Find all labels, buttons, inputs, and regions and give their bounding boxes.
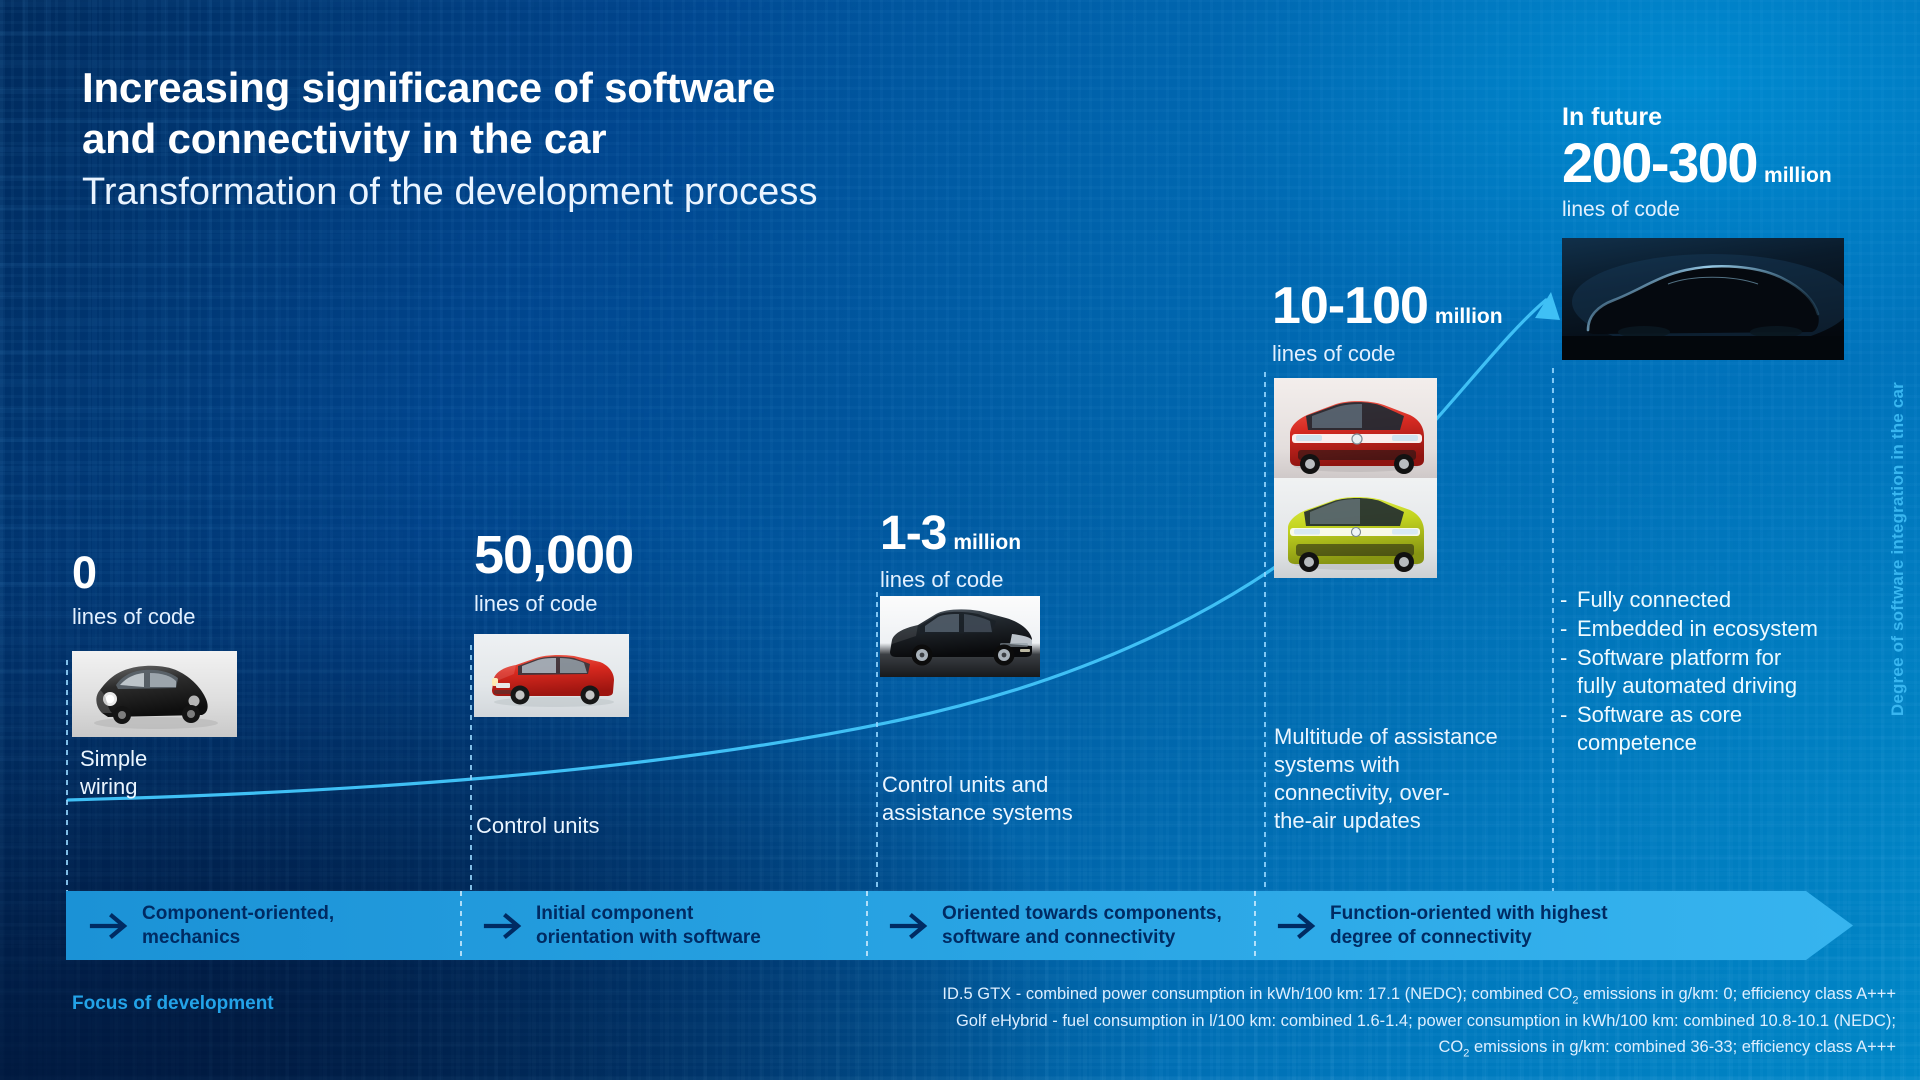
dash-icon: - [1560, 615, 1577, 643]
phase-label-1-line1: Component-oriented, [142, 902, 334, 926]
future-label: In future [1562, 104, 1892, 132]
stat-value-4-number: 10-100 [1272, 277, 1428, 335]
stat-sub-2: lines of code [474, 591, 633, 616]
phase-label-1-line2: mechanics [142, 926, 334, 950]
stat-desc-1-line1: Simple [80, 745, 147, 773]
y-axis-label: Degree of software integration in the ca… [1888, 382, 1908, 716]
future-value-number: 200-300 [1562, 131, 1757, 194]
list-item: - Software platform for fully automated … [1560, 644, 1860, 700]
stat-unit-4: million [1435, 305, 1503, 328]
phase-separator-2 [866, 891, 868, 960]
stat-column-3: 1-3million lines of code [880, 510, 1021, 592]
stat-value-3-number: 1-3 [880, 507, 946, 560]
bullet-text: Software as core competence [1577, 701, 1860, 757]
dash-icon: - [1560, 644, 1577, 700]
vw-passat-photo [880, 596, 1040, 677]
phase-item-4: Function-oriented with highest degree of… [1254, 891, 1853, 960]
stat-desc-4-line3: connectivity, over- [1274, 779, 1498, 807]
future-stat-block: In future 200-300million lines of code [1562, 104, 1892, 222]
title-line-2: and connectivity in the car [82, 113, 1082, 164]
stat-desc-1: Simple wiring [80, 745, 147, 801]
bullet-text-line2: competence [1577, 730, 1697, 755]
bullet-text-line1: Software as core [1577, 702, 1742, 727]
title-line-1: Increasing significance of software [82, 62, 1082, 113]
dash-icon: - [1560, 701, 1577, 757]
stat-desc-3-line2: assistance systems [882, 799, 1073, 827]
phase-label-2-line1: Initial component [536, 902, 761, 926]
phase-item-1: Component-oriented, mechanics [66, 891, 460, 960]
future-car-silhouette-photo [1562, 238, 1844, 360]
bullet-text: Software platform for fully automated dr… [1577, 644, 1860, 700]
stat-value-2: 50,000 [474, 528, 633, 582]
stat-column-1: 0 lines of code [72, 550, 196, 629]
bullet-text-line2: fully automated driving [1577, 673, 1797, 698]
stat-column-2: 50,000 lines of code [474, 528, 633, 616]
footnote-3b: emissions in g/km: combined 36-33; effic… [1469, 1038, 1896, 1056]
infographic-canvas: Increasing significance of software and … [0, 0, 1920, 1080]
footnote-line-2: Golf eHybrid - fuel consumption in l/100… [696, 1009, 1896, 1035]
list-item: - Software as core competence [1560, 701, 1860, 757]
arrow-right-icon [482, 911, 526, 941]
phase-band-content: Component-oriented, mechanics Initial co… [66, 891, 1853, 960]
phase-label-4-line2: degree of connectivity [1330, 926, 1608, 950]
phase-label-3-line1: Oriented towards components, [942, 902, 1222, 926]
phase-label-4-line1: Function-oriented with highest [1330, 902, 1608, 926]
stat-desc-2-line1: Control units [476, 812, 600, 840]
footnote-line-1: ID.5 GTX - combined power consumption in… [696, 982, 1896, 1009]
phase-band: Component-oriented, mechanics Initial co… [66, 891, 1853, 960]
stat-desc-3: Control units and assistance systems [882, 771, 1073, 827]
future-bullet-list: - Fully connected - Embedded in ecosyste… [1560, 586, 1860, 758]
stat-value-4: 10-100million [1272, 280, 1503, 332]
subtitle: Transformation of the development proces… [82, 170, 1082, 216]
dash-icon: - [1560, 586, 1577, 614]
footnote-line-3: CO2 emissions in g/km: combined 36-33; e… [696, 1035, 1896, 1062]
future-unit: million [1764, 164, 1832, 187]
x-axis-label: Focus of development [72, 993, 274, 1015]
stat-desc-3-line1: Control units and [882, 771, 1073, 799]
phase-label-1: Component-oriented, mechanics [142, 902, 334, 949]
footnotes: ID.5 GTX - combined power consumption in… [696, 982, 1896, 1062]
phase-separator-3 [1254, 891, 1256, 960]
stat-column-4: 10-100million lines of code [1272, 280, 1503, 366]
phase-label-3: Oriented towards components, software an… [942, 902, 1222, 949]
phase-label-3-line2: software and connectivity [942, 926, 1222, 950]
phase-item-3: Oriented towards components, software an… [866, 891, 1254, 960]
bullet-text: Fully connected [1577, 586, 1860, 614]
column-divider-5 [1552, 368, 1554, 960]
vw-golf-mk2-photo [474, 634, 629, 717]
stat-desc-4: Multitude of assistance systems with con… [1274, 723, 1498, 836]
phase-label-4: Function-oriented with highest degree of… [1330, 902, 1608, 949]
page-title: Increasing significance of software and … [82, 62, 1082, 216]
stat-value-1: 0 [72, 550, 196, 595]
stat-desc-4-line1: Multitude of assistance [1274, 723, 1498, 751]
stat-value-2-number: 50,000 [474, 525, 633, 585]
phase-item-2: Initial component orientation with softw… [460, 891, 866, 960]
bullet-text-line1: Software platform for [1577, 645, 1781, 670]
column-divider-4 [1264, 372, 1266, 960]
arrow-right-icon [1276, 911, 1320, 941]
bullet-text: Embedded in ecosystem [1577, 615, 1860, 643]
footnote-1a: ID.5 GTX - combined power consumption in… [942, 985, 1572, 1003]
future-value: 200-300million [1562, 134, 1892, 193]
future-sub: lines of code [1562, 198, 1892, 222]
stat-sub-3: lines of code [880, 567, 1021, 592]
stat-desc-1-line2: wiring [80, 773, 147, 801]
stat-unit-3: million [953, 531, 1021, 554]
stat-sub-4: lines of code [1272, 341, 1503, 366]
stat-sub-1: lines of code [72, 604, 196, 629]
title-block: Increasing significance of software and … [82, 62, 1082, 164]
vw-id5-golf8-photo [1274, 378, 1437, 578]
list-item: - Fully connected [1560, 586, 1860, 614]
arrow-right-icon [88, 911, 132, 941]
footnote-1b: emissions in g/km: 0; efficiency class A… [1579, 985, 1896, 1003]
phase-separator-1 [460, 891, 462, 960]
stat-desc-4-line2: systems with [1274, 751, 1498, 779]
stat-desc-4-line4: the-air updates [1274, 807, 1498, 835]
list-item: - Embedded in ecosystem [1560, 615, 1860, 643]
stat-desc-2: Control units [476, 812, 600, 840]
vw-beetle-photo [72, 651, 237, 737]
phase-label-2: Initial component orientation with softw… [536, 902, 761, 949]
stat-value-3: 1-3million [880, 510, 1021, 558]
stat-value-1-number: 0 [72, 547, 96, 598]
footnote-3a: CO [1439, 1038, 1464, 1056]
phase-label-2-line2: orientation with software [536, 926, 761, 950]
arrow-right-icon [888, 911, 932, 941]
